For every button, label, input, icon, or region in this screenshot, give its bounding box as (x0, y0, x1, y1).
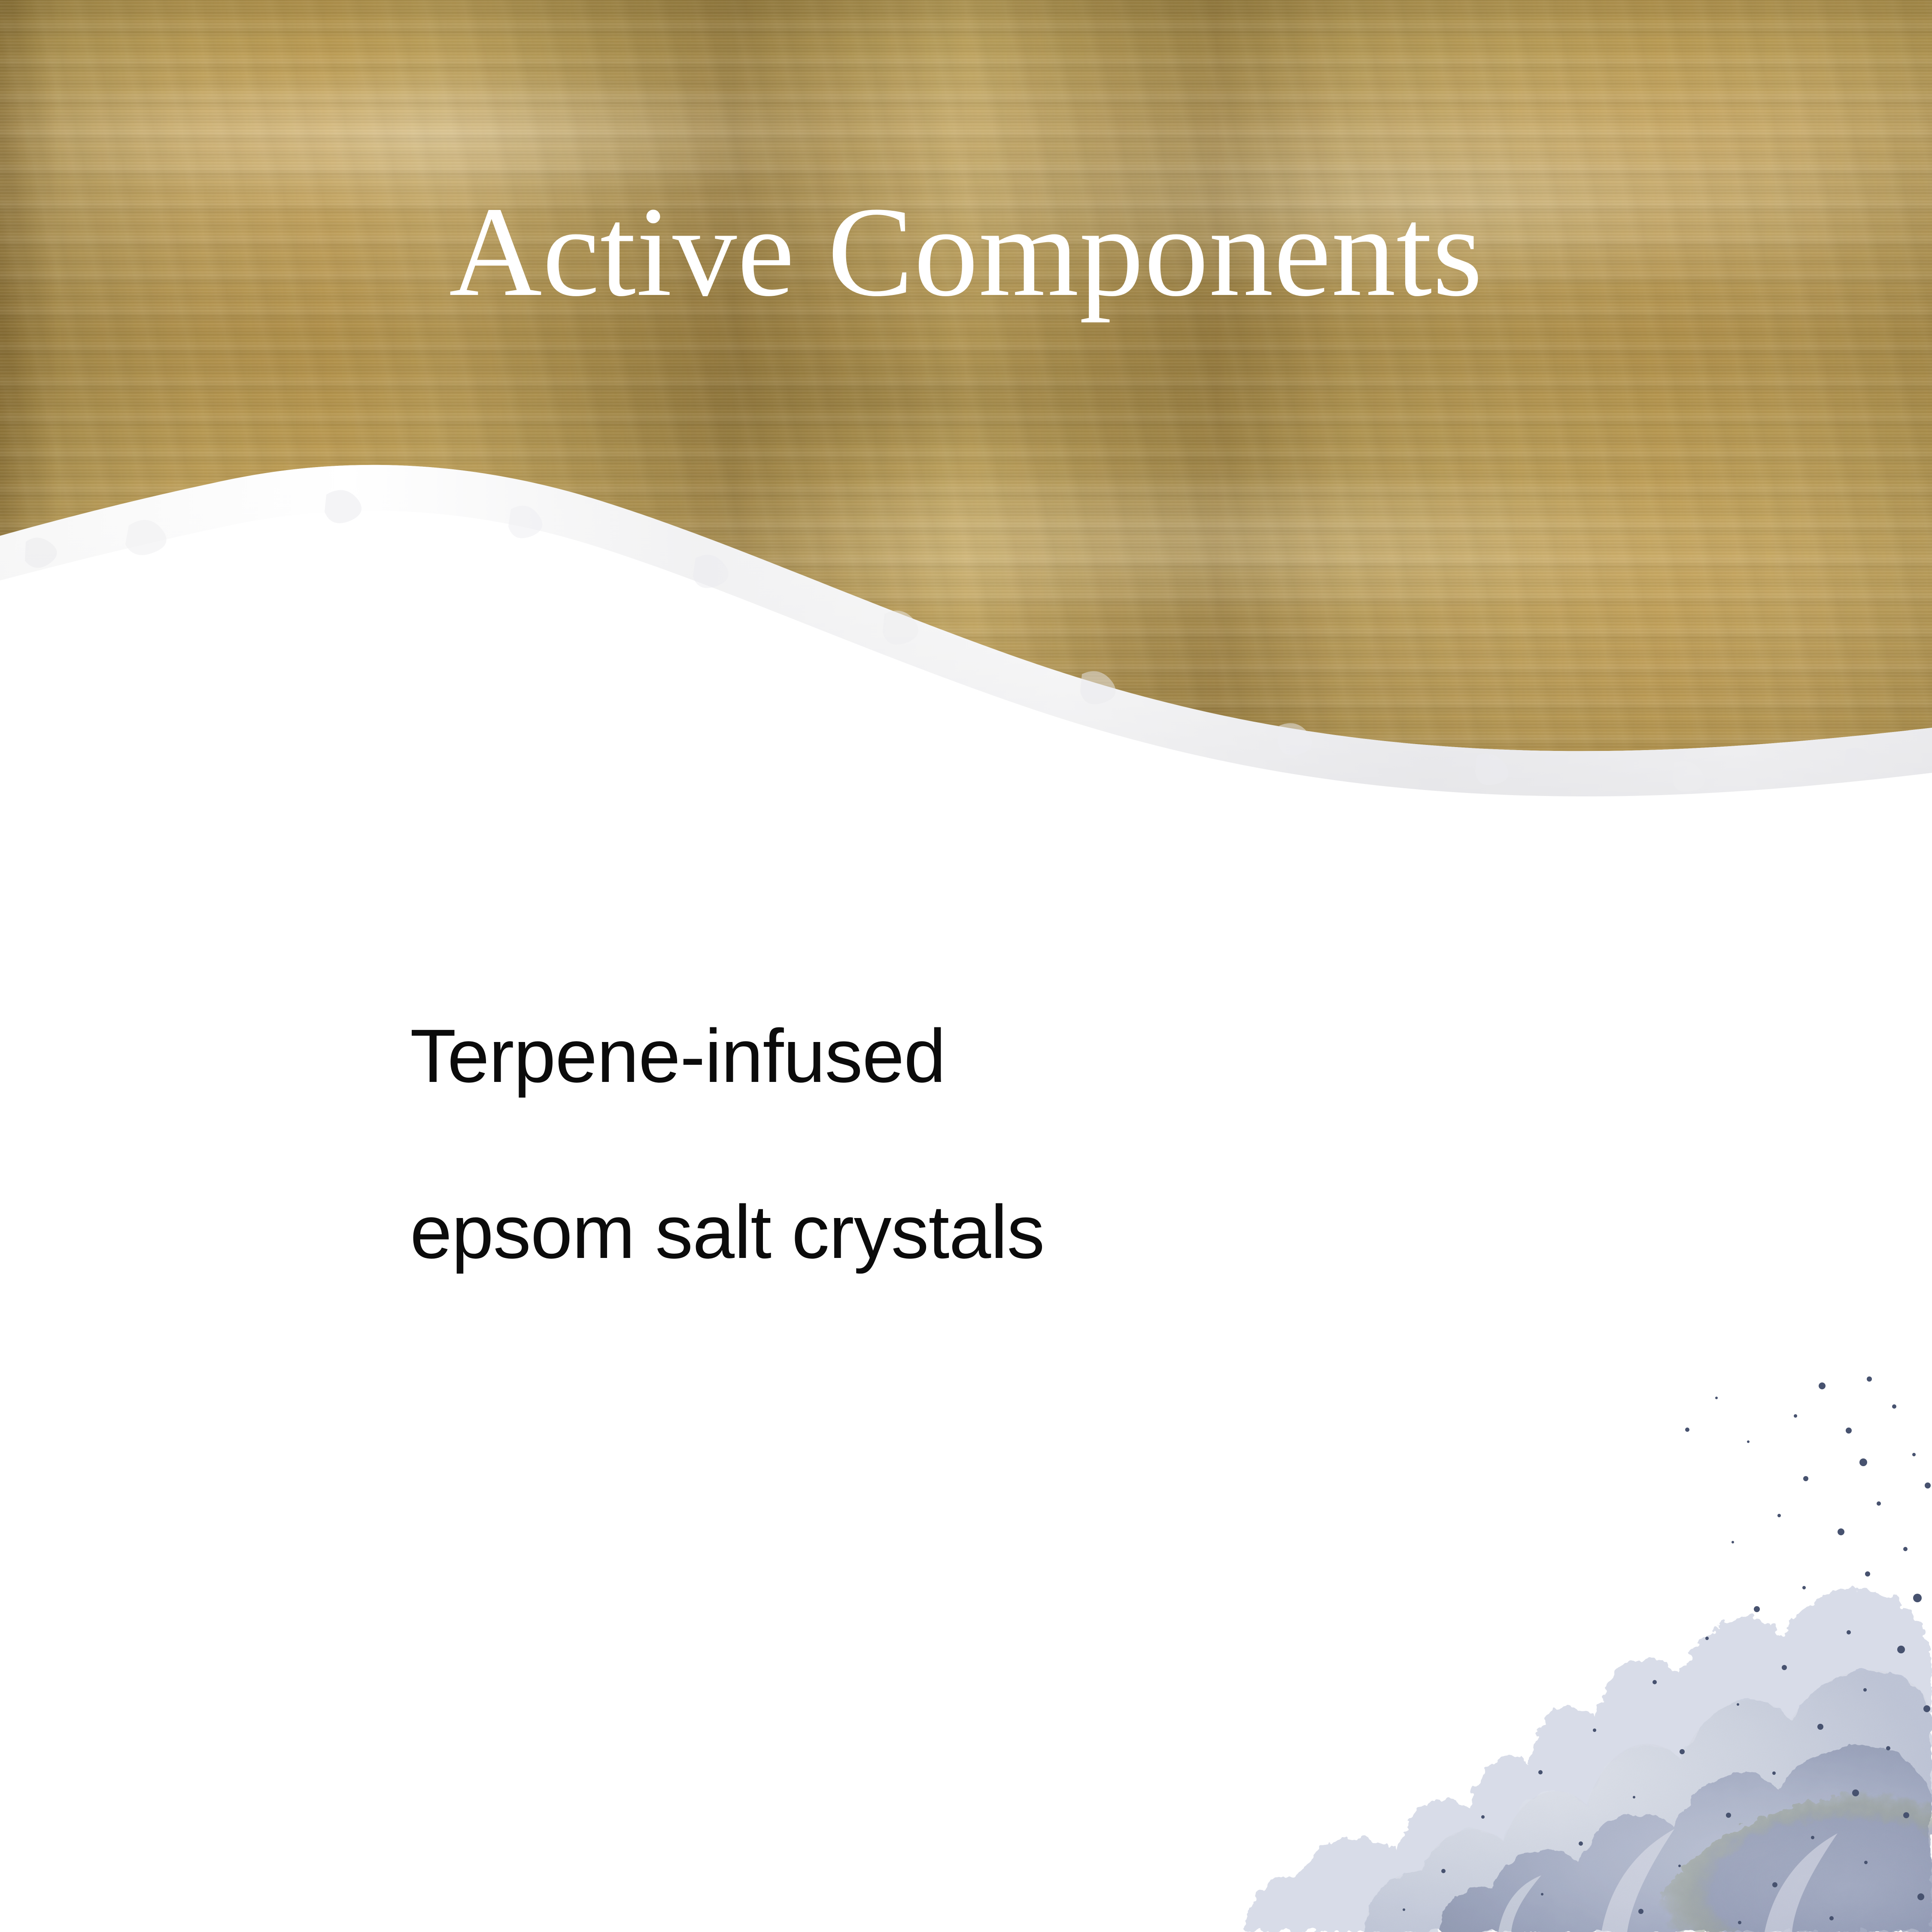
body-line-2: epsom salt crystals (410, 1144, 1741, 1320)
watercolor-lobe-pale (1245, 1588, 1932, 1932)
watercolor-veins (1498, 1829, 1838, 1932)
watercolor-lobe-mid (1365, 1670, 1932, 1932)
watercolor-grain (1365, 1670, 1932, 1932)
watercolor-shadow-right (1644, 1786, 1932, 1932)
gold-banner-shape (0, 0, 1932, 773)
page-title: Active Components (0, 187, 1932, 316)
body-copy: Terpene-infused epsom salt crystals (410, 968, 1741, 1320)
watercolor-splash (1181, 1331, 1932, 1932)
watercolor-lobe-deep (1438, 1745, 1932, 1932)
gold-banner (0, 0, 1932, 773)
body-line-1: Terpene-infused (410, 968, 1741, 1144)
watercolor-speckles (1403, 1376, 1931, 1924)
poster-canvas: Active Components Terpene-infused epsom … (0, 0, 1932, 1932)
